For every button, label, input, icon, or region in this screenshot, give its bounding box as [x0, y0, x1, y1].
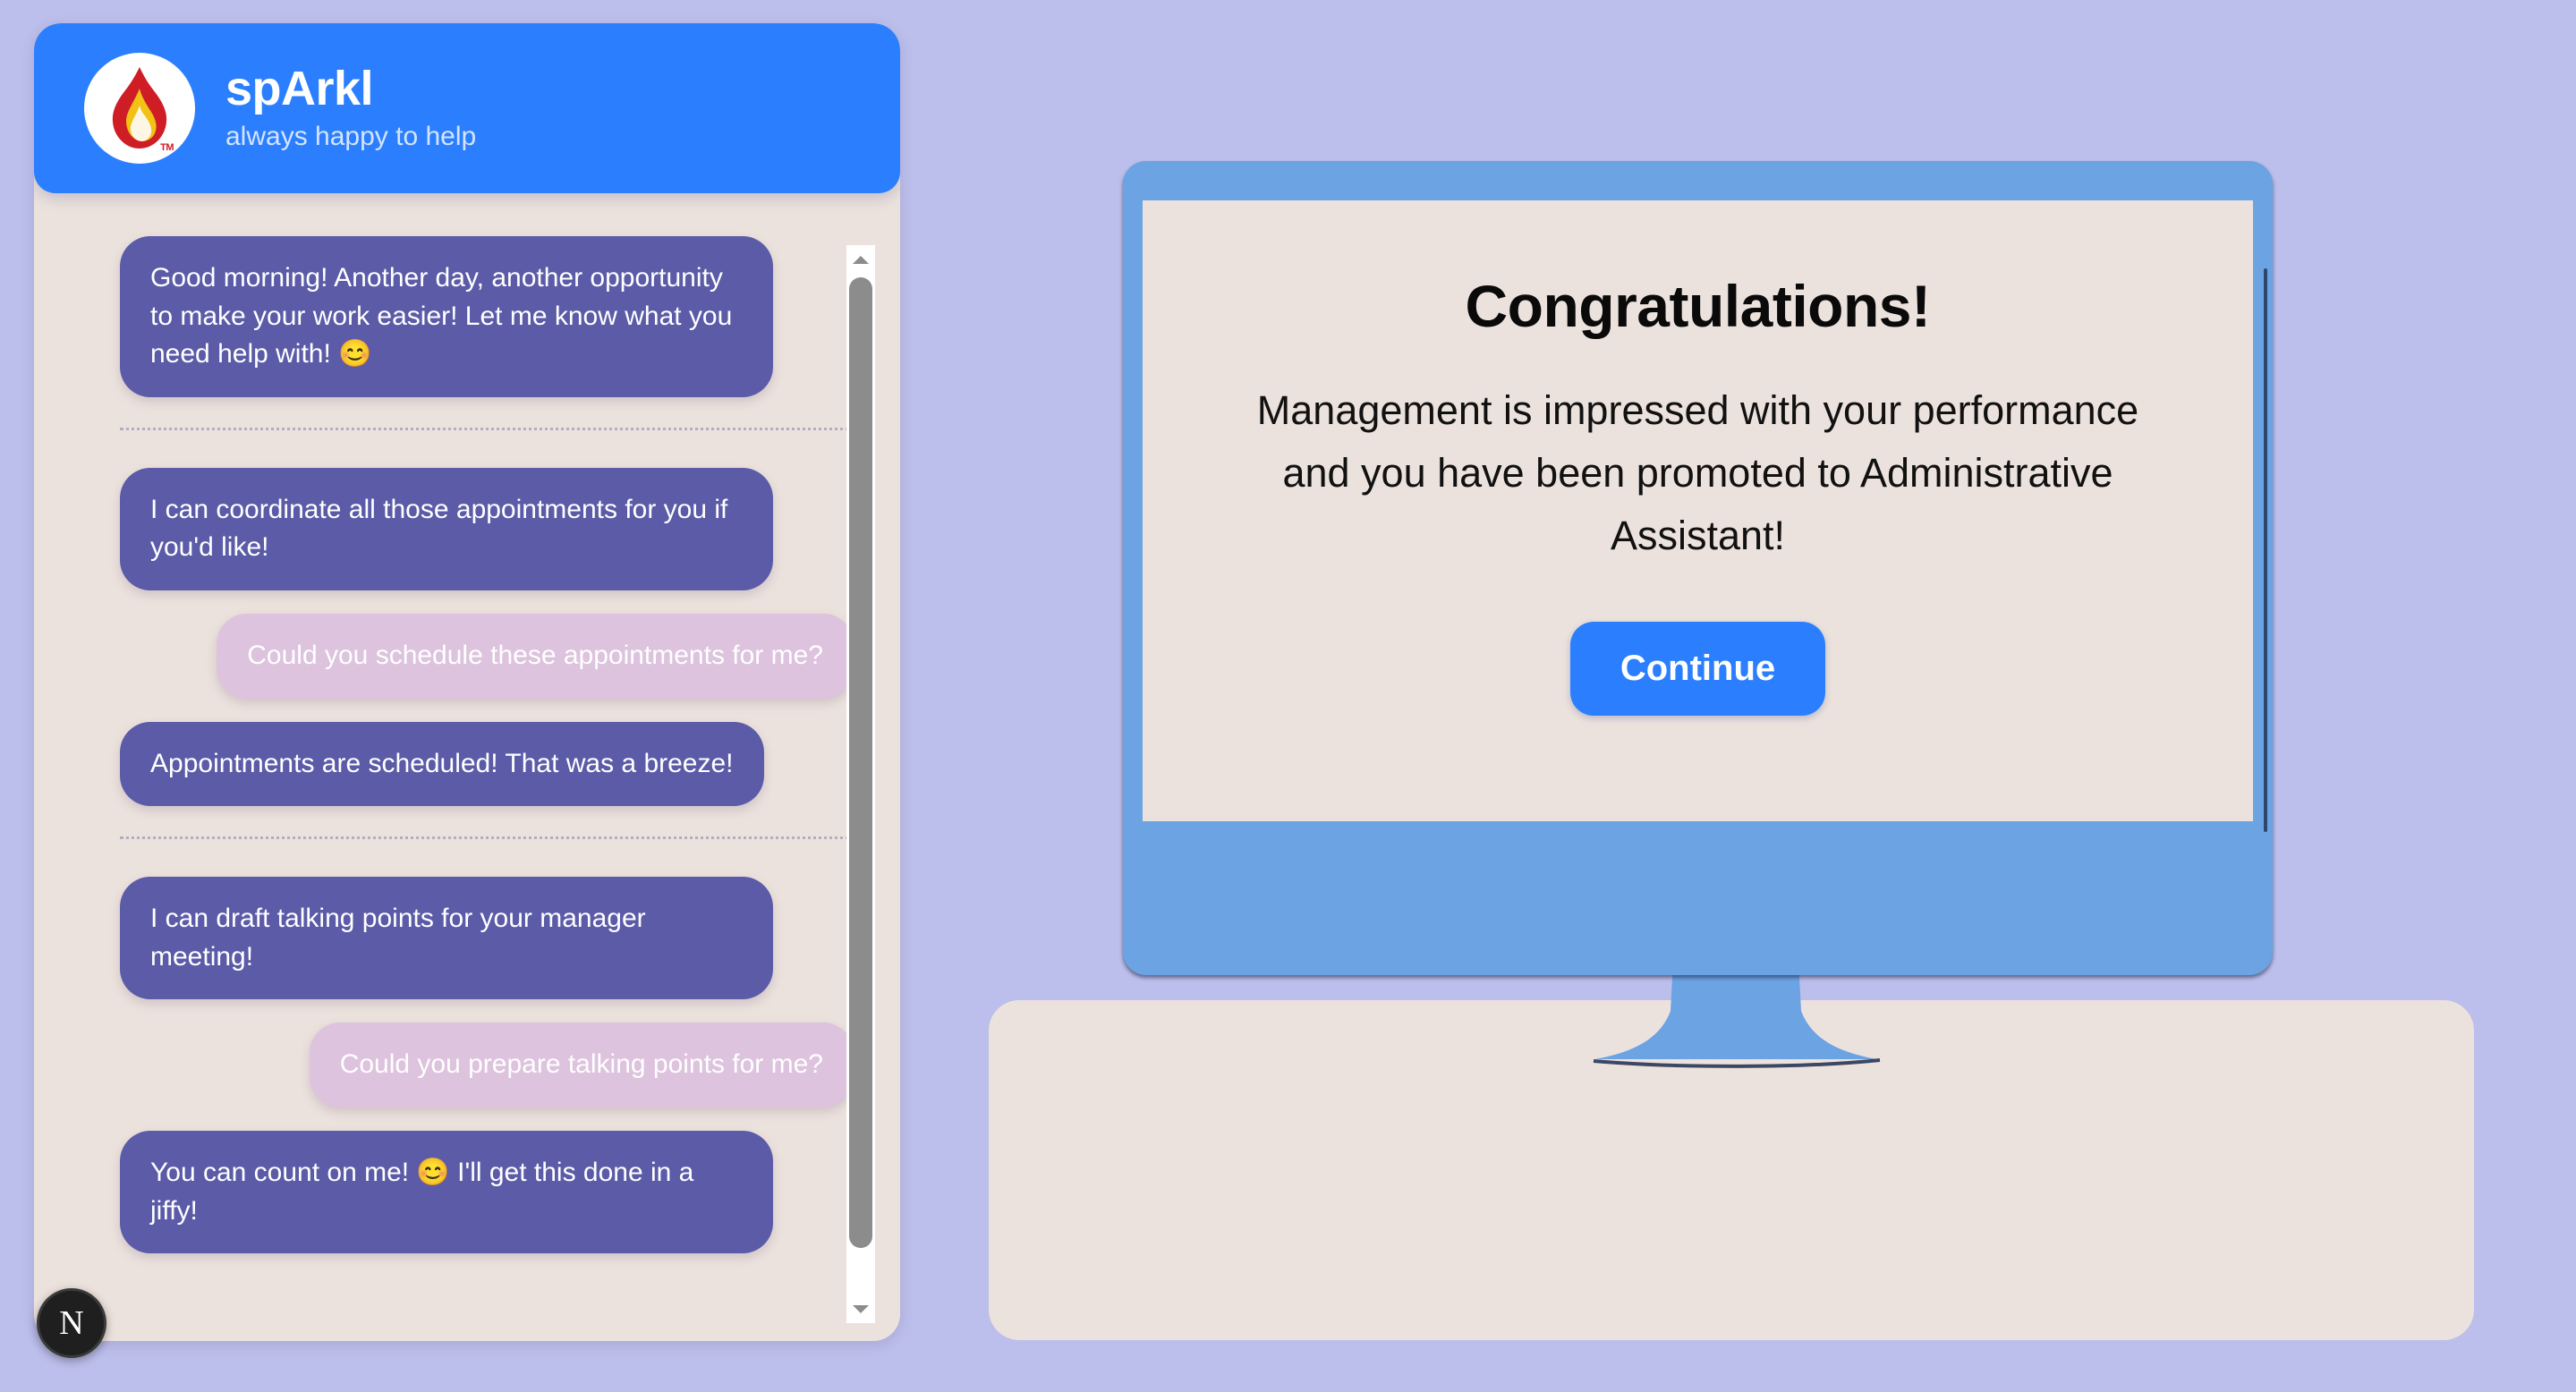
- message-row: Could you prepare talking points for me?: [120, 1023, 870, 1108]
- messages-list: Good morning! Another day, another oppor…: [34, 236, 900, 1253]
- message-row: I can draft talking points for your mana…: [120, 877, 870, 999]
- monitor-screen: Congratulations! Management is impressed…: [1143, 200, 2253, 821]
- chat-scrollbar[interactable]: [846, 245, 875, 1323]
- promotion-modal: Congratulations! Management is impressed…: [1143, 200, 2253, 821]
- message-row: You can count on me! 😊 I'll get this don…: [120, 1131, 870, 1253]
- chevron-down-icon[interactable]: [846, 1294, 875, 1323]
- app-title: spArkl: [225, 63, 476, 115]
- message-row: Could you schedule these appointments fo…: [120, 614, 870, 699]
- assistant-message-bubble: Appointments are scheduled! That was a b…: [120, 722, 764, 807]
- assistant-message-bubble: I can draft talking points for your mana…: [120, 877, 773, 999]
- message-group: I can coordinate all those appointments …: [120, 468, 870, 806]
- assistant-message-bubble: You can count on me! 😊 I'll get this don…: [120, 1131, 773, 1253]
- message-row: I can coordinate all those appointments …: [120, 468, 870, 590]
- flame-icon: TM: [84, 53, 195, 164]
- chat-header: TM spArkl always happy to help: [34, 23, 900, 193]
- message-group: I can draft talking points for your mana…: [120, 877, 870, 1253]
- user-message-bubble: Could you schedule these appointments fo…: [217, 614, 854, 699]
- brand-text: spArkl always happy to help: [225, 63, 476, 154]
- message-group: Good morning! Another day, another oppor…: [120, 236, 870, 397]
- assistant-message-bubble: I can coordinate all those appointments …: [120, 468, 773, 590]
- message-row: Appointments are scheduled! That was a b…: [120, 722, 870, 807]
- modal-title: Congratulations!: [1466, 272, 1931, 340]
- continue-button[interactable]: Continue: [1570, 622, 1825, 716]
- conversation-divider: [120, 836, 855, 839]
- monitor: Congratulations! Management is impressed…: [1123, 161, 2273, 975]
- message-row: Good morning! Another day, another oppor…: [120, 236, 870, 397]
- messages-scroll-area[interactable]: Good morning! Another day, another oppor…: [34, 193, 900, 1341]
- conversation-divider: [120, 428, 855, 430]
- dev-tools-badge[interactable]: N: [37, 1288, 106, 1358]
- user-message-bubble: Could you prepare talking points for me?: [310, 1023, 854, 1108]
- chevron-up-icon[interactable]: [846, 245, 875, 274]
- chat-panel: TM spArkl always happy to help Good morn…: [34, 23, 900, 1341]
- assistant-message-bubble: Good morning! Another day, another oppor…: [120, 236, 773, 397]
- monitor-scene: Congratulations! Management is impressed…: [948, 161, 2523, 1351]
- scrollbar-thumb[interactable]: [849, 277, 872, 1248]
- app-subtitle: always happy to help: [225, 120, 476, 154]
- modal-body-text: Management is impressed with your perfor…: [1242, 379, 2155, 566]
- trademark-mark: TM: [160, 142, 174, 153]
